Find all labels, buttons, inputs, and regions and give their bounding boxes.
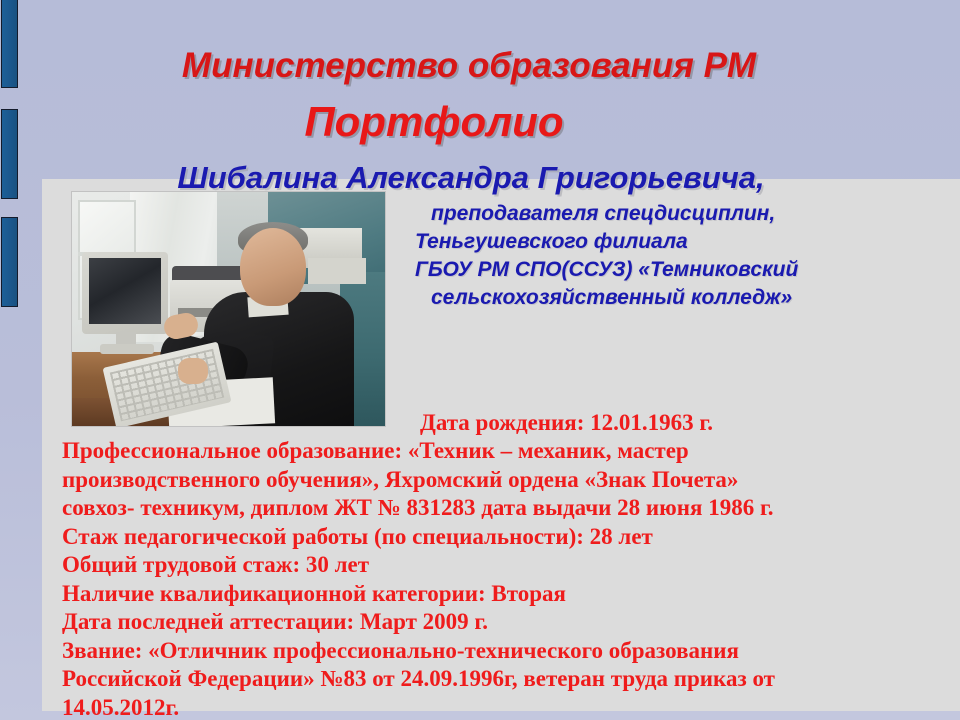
position-description: преподавателя спецдисциплин, Теньгушевск… bbox=[415, 200, 935, 312]
biography-line: Российской Федерации» №83 от 24.09.1996г… bbox=[62, 665, 952, 694]
presentation-slide: Министерство образования РМ Портфолио Ши… bbox=[0, 0, 960, 720]
biography-line: Звание: «Отличник профессионально-технич… bbox=[62, 637, 952, 666]
biography-text: Профессиональное образование: «Техник – … bbox=[62, 437, 952, 720]
biography-line: производственного обучения», Яхромский о… bbox=[62, 466, 952, 495]
photo-cabinet-2 bbox=[308, 258, 366, 284]
biography-line: Общий трудовой стаж: 30 лет bbox=[62, 551, 952, 580]
page-title: Портфолио bbox=[0, 98, 960, 146]
description-line: Теньгушевского филиала bbox=[415, 228, 935, 256]
description-line: ГБОУ РМ СПО(ССУЗ) «Темниковский bbox=[415, 256, 935, 284]
biography-line: Дата последней аттестации: Март 2009 г. bbox=[62, 608, 952, 637]
biography-line: совхоз- техникум, диплом ЖТ № 831283 дат… bbox=[62, 494, 952, 523]
description-line: преподавателя спецдисциплин, bbox=[415, 200, 935, 228]
heading-ministry: Министерство образования РМ bbox=[0, 46, 960, 86]
photo-monitor-base bbox=[100, 344, 154, 354]
biography-line: Стаж педагогической работы (по специальн… bbox=[62, 523, 952, 552]
description-line: сельскохозяйственный колледж» bbox=[415, 284, 935, 312]
portrait-photo bbox=[72, 192, 385, 426]
biography-line: Наличие квалификационной категории: Втор… bbox=[62, 580, 952, 609]
photo-person-hand-left bbox=[178, 358, 208, 384]
photo-person-head bbox=[240, 228, 306, 306]
biography-line: 14.05.2012г. bbox=[62, 694, 952, 720]
biography-line: Профессиональное образование: «Техник – … bbox=[62, 437, 952, 466]
heading-person-name: Шибалина Александра Григорьевича, bbox=[0, 160, 960, 196]
birth-date-line: Дата рождения: 12.01.1963 г. bbox=[420, 410, 713, 436]
photo-monitor-screen bbox=[89, 258, 161, 324]
decorative-bar-3 bbox=[1, 217, 18, 307]
